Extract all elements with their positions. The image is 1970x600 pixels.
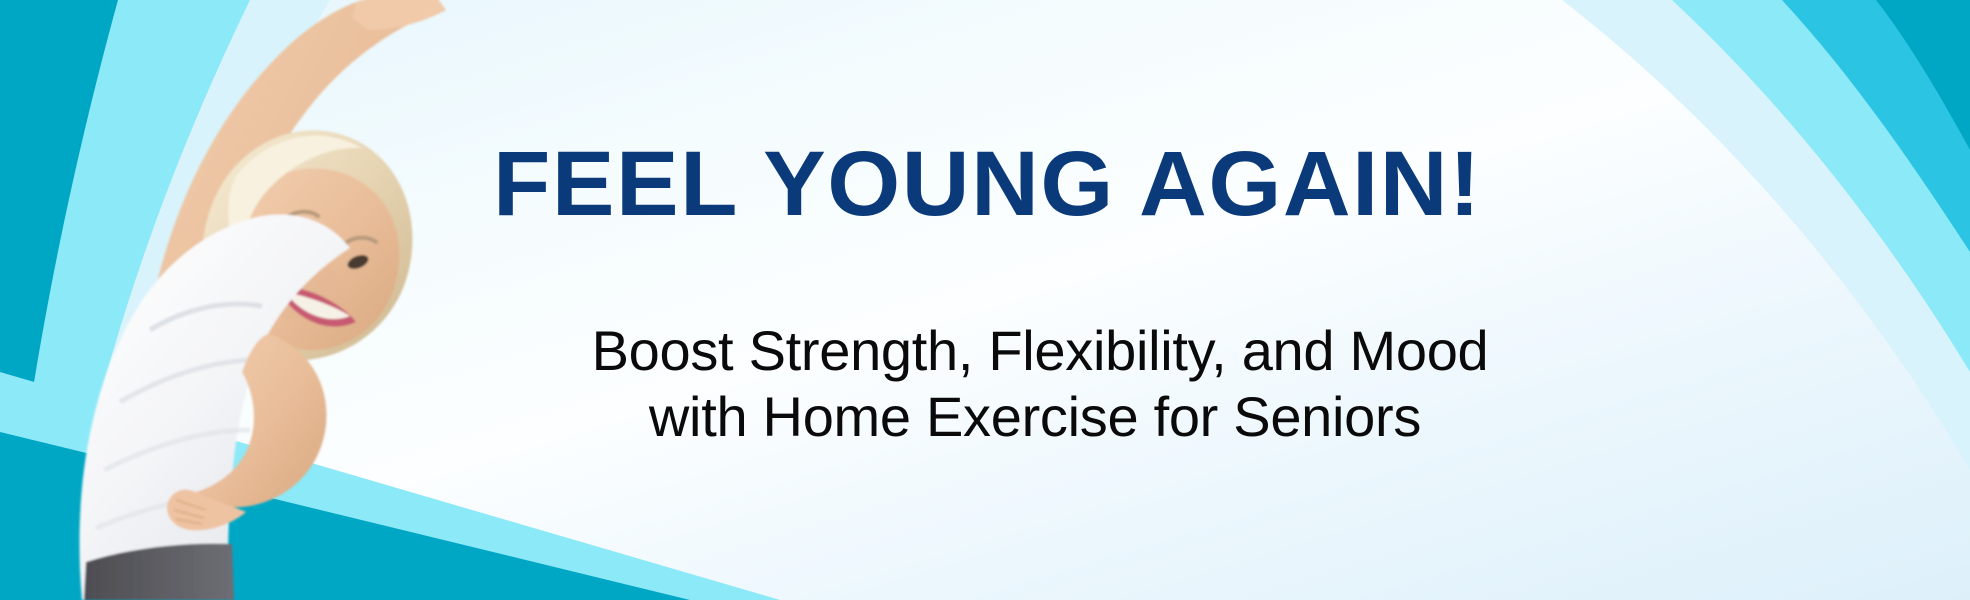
senior-woman-stretching-photo	[0, 0, 480, 600]
hero-banner: FEEL YOUNG AGAIN! Boost Strength, Flexib…	[0, 0, 1970, 600]
